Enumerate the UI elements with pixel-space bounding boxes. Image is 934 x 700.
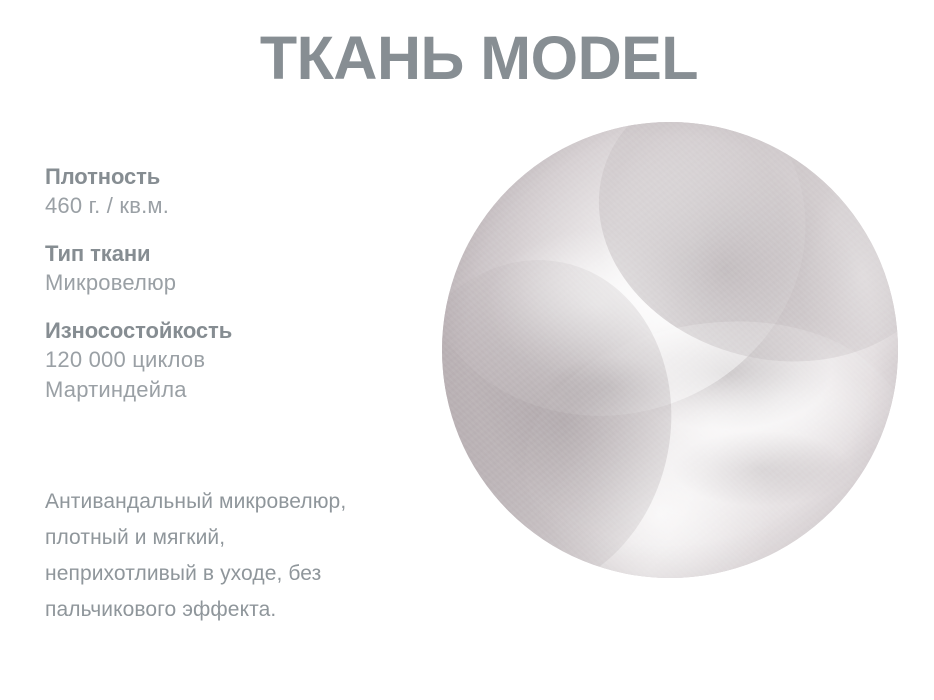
fabric-spec-card: ТКАНЬ MODEL Плотность 460 г. / кв.м. Тип… (0, 0, 934, 700)
spec-value-abrasion-line2: Мартиндейла (45, 375, 425, 405)
spec-value-abrasion-line1: 120 000 циклов (45, 345, 425, 375)
spec-item-density: Плотность 460 г. / кв.м. (45, 163, 425, 221)
page-title: ТКАНЬ MODEL (0, 26, 934, 90)
description-line-3: неприхотливый в уходе, без (45, 556, 475, 592)
spec-value-density: 460 г. / кв.м. (45, 191, 425, 221)
spec-value-fabric-type: Микровелюр (45, 268, 425, 298)
description-text: Антивандальный микровелюр, плотный и мяг… (45, 484, 475, 628)
spec-item-fabric-type: Тип ткани Микровелюр (45, 240, 425, 298)
spec-list: Плотность 460 г. / кв.м. Тип ткани Микро… (45, 163, 425, 423)
spec-label-density: Плотность (45, 163, 425, 191)
description-line-1: Антивандальный микровелюр, (45, 484, 475, 520)
description-line-4: пальчикового эффекта. (45, 592, 475, 628)
spec-label-fabric-type: Тип ткани (45, 240, 425, 268)
spec-label-abrasion: Износостойкость (45, 317, 425, 345)
description-line-2: плотный и мягкий, (45, 520, 475, 556)
fabric-photo-vignette (442, 122, 898, 578)
spec-item-abrasion: Износостойкость 120 000 циклов Мартиндей… (45, 317, 425, 405)
fabric-photo-circle (442, 122, 898, 578)
